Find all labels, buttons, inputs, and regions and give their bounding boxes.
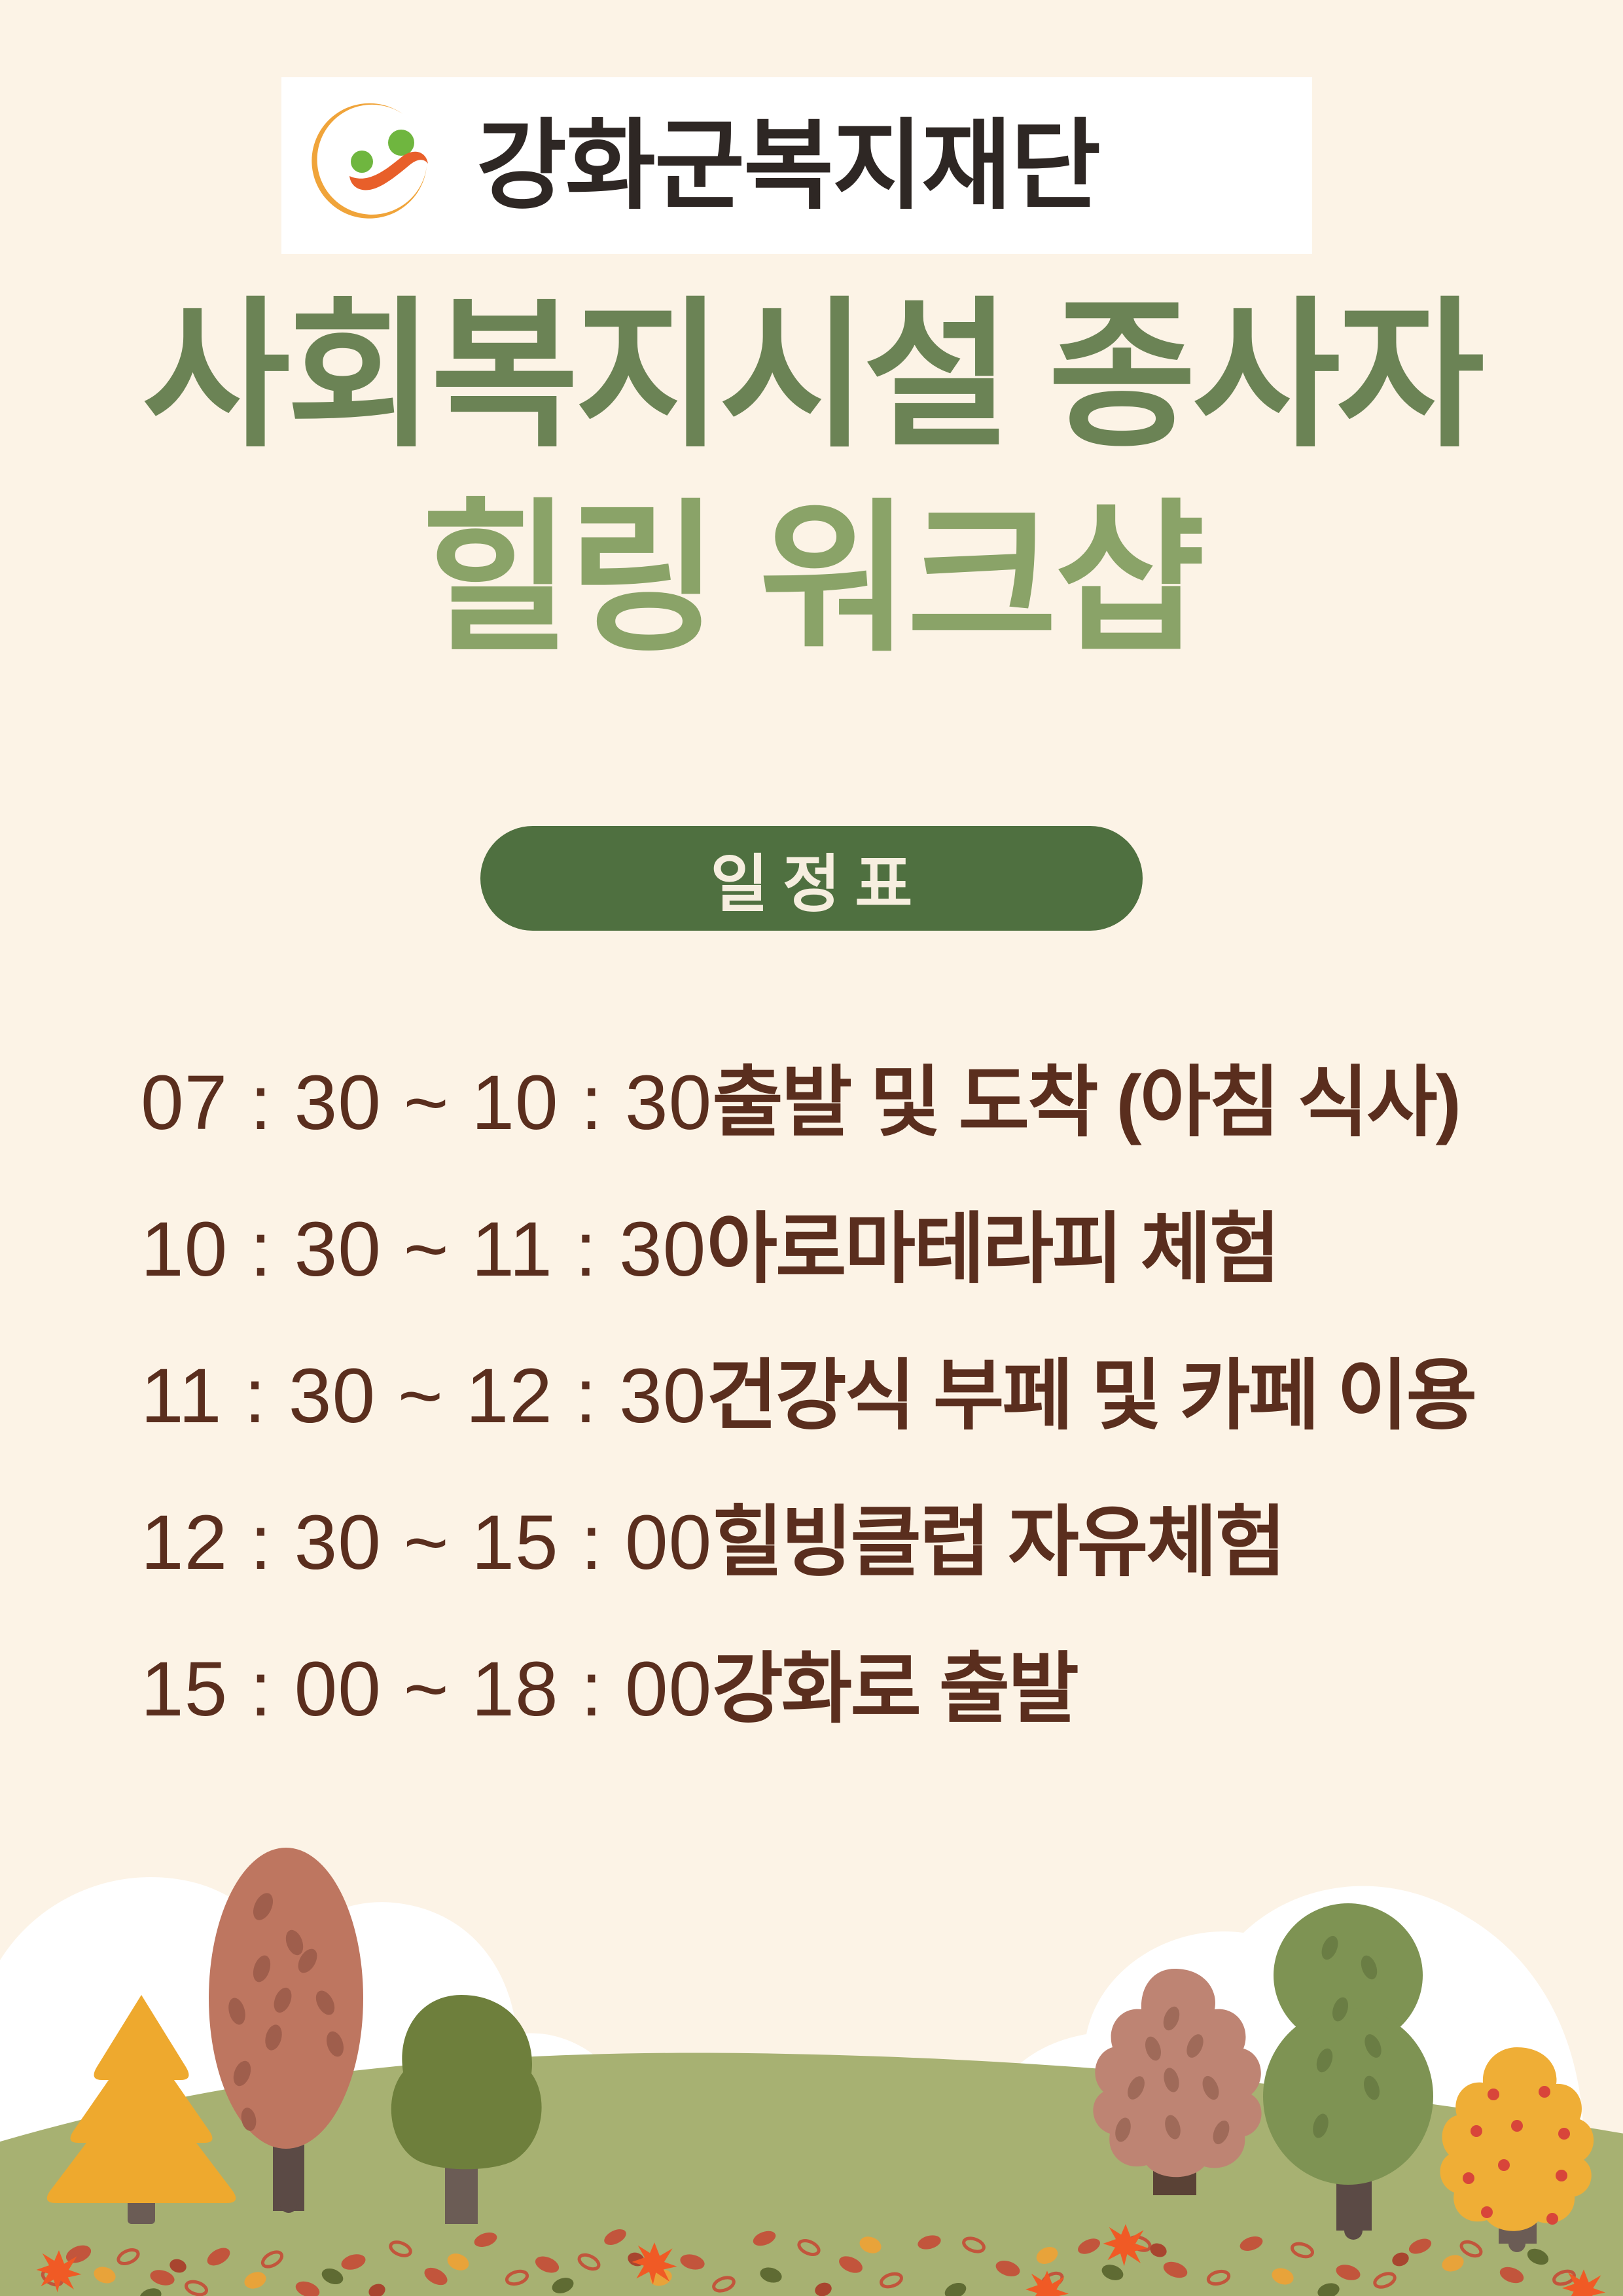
schedule-row: 10 : 30 ~ 11 : 30 아로마테라피 체험 bbox=[141, 1186, 1515, 1317]
schedule-row: 11 : 30 ~ 12 : 30 건강식 부페 및 카페 이용 bbox=[141, 1333, 1515, 1463]
schedule-time: 15 : 00 ~ 18 : 00 bbox=[141, 1645, 712, 1734]
schedule-row: 07 : 30 ~ 10 : 30 출발 및 도착 (아침 식사) bbox=[141, 1039, 1515, 1170]
logo-wordmark: 강화군복지재단 bbox=[476, 117, 1099, 215]
schedule-time: 10 : 30 ~ 11 : 30 bbox=[141, 1205, 706, 1294]
schedule-row: 15 : 00 ~ 18 : 00 강화로 출발 bbox=[141, 1626, 1515, 1757]
schedule-badge: 일정표 bbox=[480, 826, 1143, 931]
poster-title-line2: 힐링 워크샵 bbox=[0, 497, 1623, 661]
schedule-list: 07 : 30 ~ 10 : 30 출발 및 도착 (아침 식사) 10 : 3… bbox=[141, 1039, 1515, 1772]
schedule-time: 07 : 30 ~ 10 : 30 bbox=[141, 1058, 712, 1147]
schedule-time: 12 : 30 ~ 15 : 00 bbox=[141, 1498, 712, 1587]
schedule-description: 건강식 부페 및 카페 이용 bbox=[706, 1333, 1475, 1444]
autumn-landscape-illustration bbox=[0, 1838, 1623, 2296]
schedule-description: 강화로 출발 bbox=[712, 1626, 1077, 1738]
organization-logo: 강화군복지재단 bbox=[281, 77, 1312, 254]
schedule-badge-container: 일정표 bbox=[0, 826, 1623, 931]
poster-canvas: 강화군복지재단 사회복지시설 종사자 힐링 워크샵 일정표 07 : 30 ~ … bbox=[0, 0, 1623, 2296]
schedule-description: 아로마테라피 체험 bbox=[706, 1186, 1278, 1298]
foundation-mark-icon bbox=[300, 96, 440, 236]
poster-title-line1: 사회복지시설 종사자 bbox=[0, 296, 1623, 457]
schedule-description: 출발 및 도착 (아침 식사) bbox=[712, 1039, 1459, 1151]
schedule-time: 11 : 30 ~ 12 : 30 bbox=[141, 1352, 706, 1441]
schedule-row: 12 : 30 ~ 15 : 00 힐빙클럽 자유체험 bbox=[141, 1479, 1515, 1610]
schedule-description: 힐빙클럽 자유체험 bbox=[712, 1479, 1284, 1591]
